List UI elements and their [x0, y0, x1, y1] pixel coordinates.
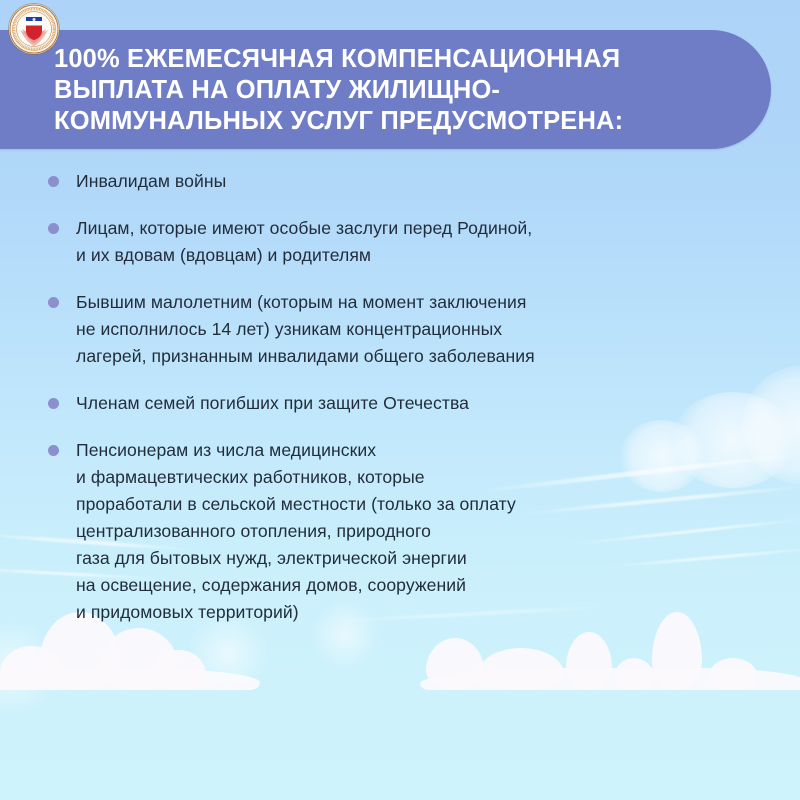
bullet-dot-icon: [48, 176, 59, 187]
cloud-base: [0, 668, 260, 690]
list-item: Лицам, которые имеют особые заслуги пере…: [48, 215, 748, 269]
cloud-base: [420, 668, 800, 690]
bullet-dot-icon: [48, 297, 59, 308]
infographic-poster: 100% ЕЖЕМЕСЯЧНАЯ КОМПЕНСАЦИОННАЯ ВЫПЛАТА…: [0, 0, 800, 800]
list-item-label: Бывшим малолетним (которым на момент зак…: [76, 289, 748, 370]
cloud-bump: [614, 658, 654, 690]
list-item-label: Членам семей погибших при защите Отечест…: [76, 390, 748, 417]
cloud-bump: [708, 658, 758, 690]
list-item: Пенсионерам из числа медицинских и фарма…: [48, 437, 748, 626]
benefit-list: Инвалидам войны Лицам, которые имеют осо…: [48, 168, 748, 646]
organization-emblem-logo: [9, 4, 59, 54]
page-title: 100% ЕЖЕМЕСЯЧНАЯ КОМПЕНСАЦИОННАЯ ВЫПЛАТА…: [54, 44, 760, 137]
list-item: Инвалидам войны: [48, 168, 748, 195]
list-item-label: Лицам, которые имеют особые заслуги пере…: [76, 215, 748, 269]
list-item-label: Пенсионерам из числа медицинских и фарма…: [76, 437, 748, 626]
cloud-bump: [152, 650, 206, 690]
bullet-dot-icon: [48, 445, 59, 456]
emblem-icon: [9, 4, 59, 54]
list-item-label: Инвалидам войны: [76, 168, 748, 195]
header-banner: 100% ЕЖЕМЕСЯЧНАЯ КОМПЕНСАЦИОННАЯ ВЫПЛАТА…: [0, 30, 771, 149]
bullet-dot-icon: [48, 398, 59, 409]
bullet-dot-icon: [48, 223, 59, 234]
cloud-bump: [0, 646, 62, 690]
cloud-bump: [478, 648, 564, 690]
list-item: Бывшим малолетним (которым на момент зак…: [48, 289, 748, 370]
soft-cloud: [742, 366, 800, 484]
list-item: Членам семей погибших при защите Отечест…: [48, 390, 748, 417]
